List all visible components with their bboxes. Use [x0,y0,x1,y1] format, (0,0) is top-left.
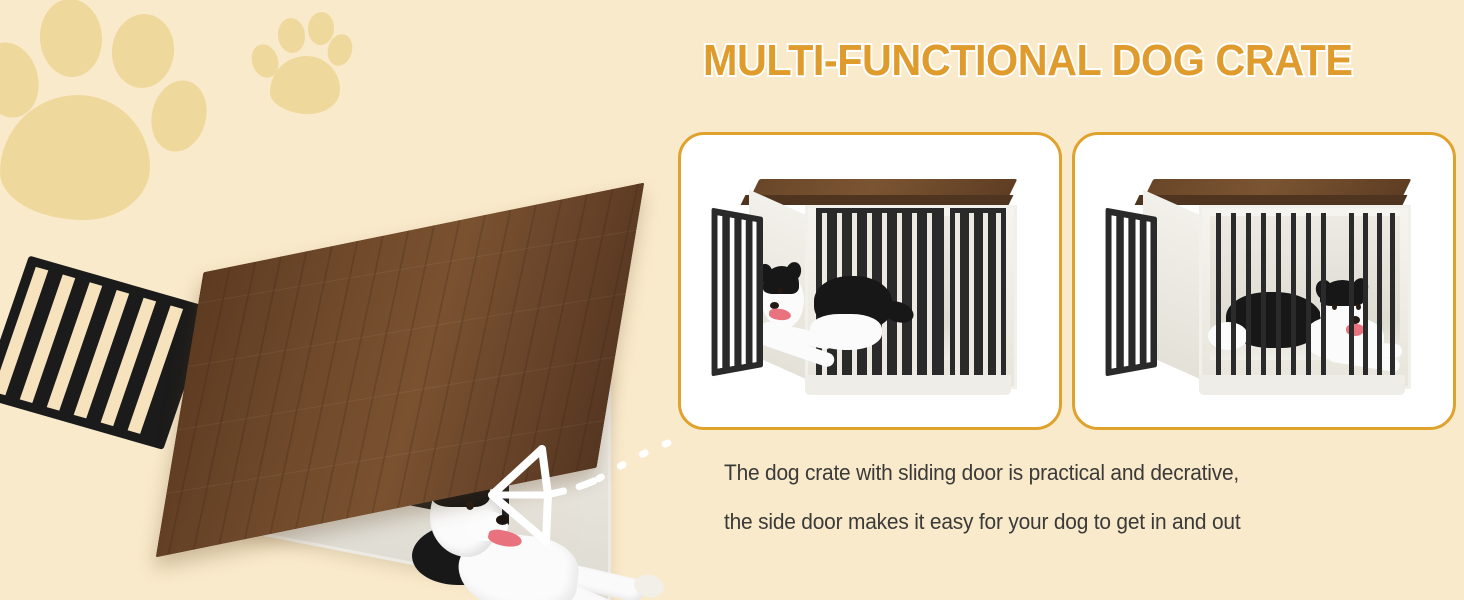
door-bar [1124,217,1129,366]
door-bar [1111,215,1116,368]
description-line-2: the side door makes it easy for your dog… [724,497,1408,546]
crate-bar [1261,213,1266,381]
crate-dog [756,262,916,382]
arrow-icon [470,425,680,545]
direction-arrow-annotation [470,425,680,545]
crate-bar [1390,213,1395,381]
dog-tail [880,298,917,327]
crate-bar [969,213,974,381]
crate-front-face [1199,205,1411,389]
product-photo-card-2[interactable] [1072,132,1456,430]
door-bar [1135,219,1139,364]
crate-base-plinth [1199,375,1405,395]
crate-bar [1377,213,1382,381]
door-bar [1146,221,1150,363]
crate-bar [1363,213,1368,381]
product-photo-card-1[interactable] [678,132,1062,430]
crate-bar [1349,213,1354,381]
door-bar [741,219,745,364]
crate-illustration [1097,169,1437,399]
description-line-1: The dog crate with sliding door is pract… [724,448,1408,497]
crate-bar [955,213,960,381]
crate-front-face [805,205,1017,389]
dog-eye [778,288,783,294]
crate-open-side-door [1106,208,1157,377]
crate-bar [1276,213,1281,381]
crate-bar [996,213,1001,381]
crate-fixed-panel [1344,208,1400,386]
crate-bar [1231,213,1236,381]
crate-illustration [703,169,1043,399]
crate-bar [1306,213,1311,381]
page-title: MULTI-FUNCTIONAL DOG CRATE [703,36,1352,86]
crate-bar [1246,213,1251,381]
promo-banner: MULTI-FUNCTIONAL DOG CRATE [0,0,1464,600]
arrow-dash-mid [550,481,594,494]
door-bar [717,215,722,368]
crate-open-side-door [712,208,763,377]
crate-bar [1216,213,1221,381]
crate-bar [983,213,988,381]
crate-sliding-door [1210,208,1338,386]
paw-toe [276,17,307,55]
crate-bar [927,213,932,381]
arrow-dash-tail [598,443,668,479]
door-bar [752,221,756,363]
product-description: The dog crate with sliding door is pract… [724,448,1408,546]
crate-base-plinth [805,375,1011,395]
crate-bar [1291,213,1296,381]
crate-fixed-panel [950,208,1006,386]
crate-bar [1321,213,1326,381]
door-bar [730,217,735,366]
